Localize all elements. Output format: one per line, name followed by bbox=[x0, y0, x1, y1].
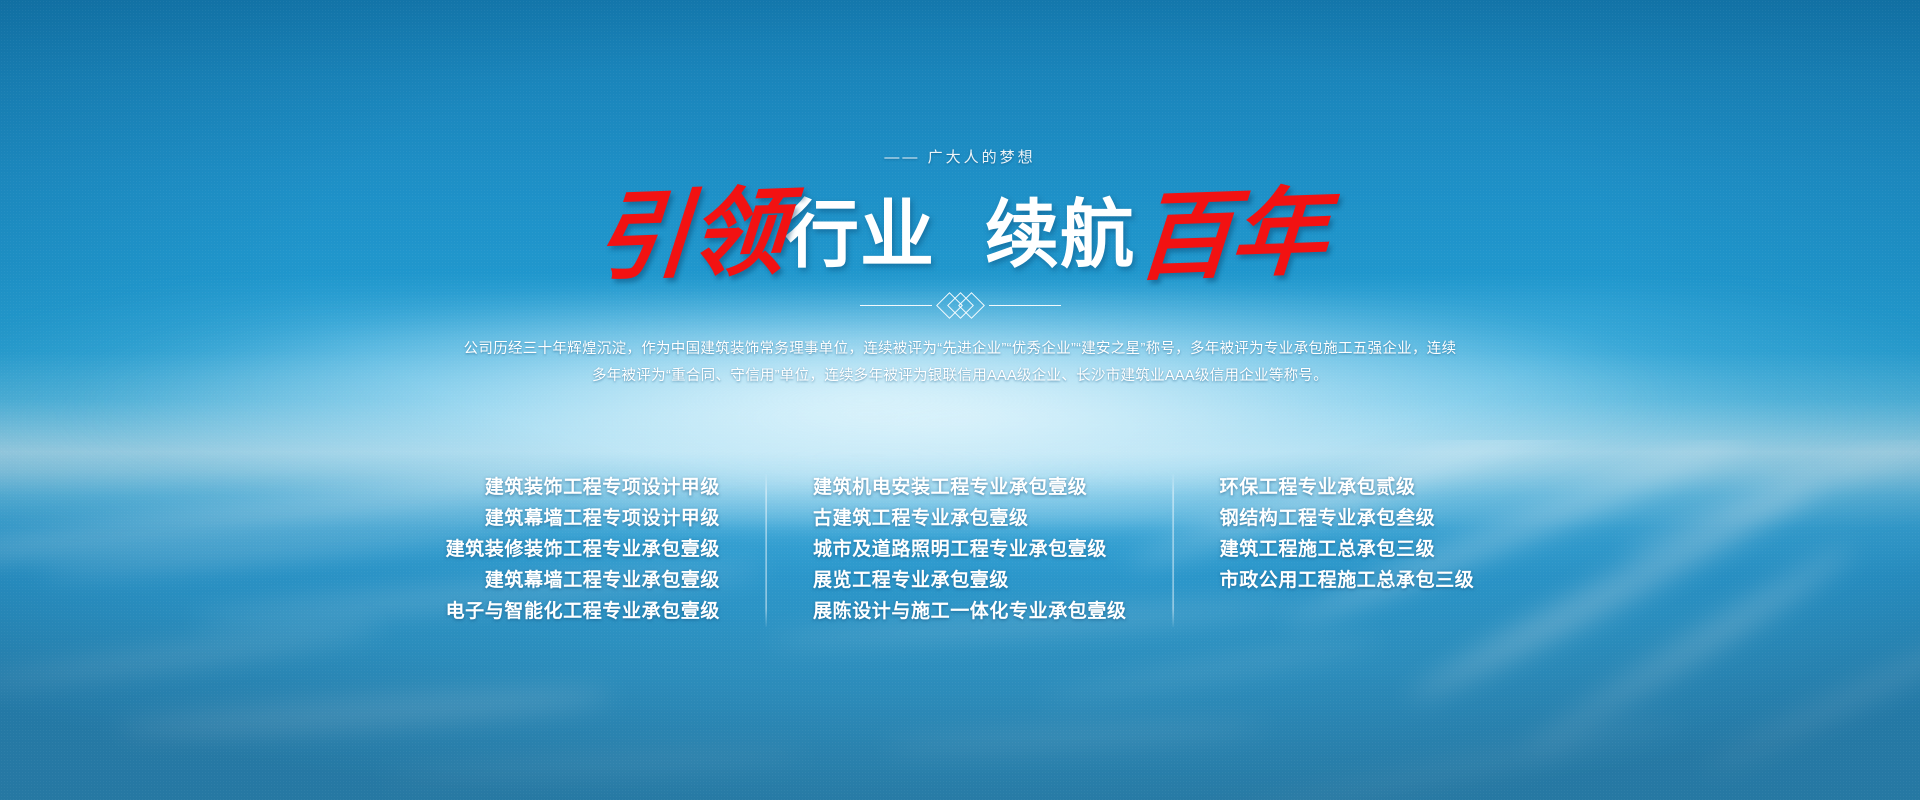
headline-part-lead: 引领 bbox=[591, 184, 786, 287]
qualification-item: 古建筑工程专业承包壹级 bbox=[813, 503, 1127, 534]
headline-part-century: 百年 bbox=[1133, 184, 1328, 287]
hero-banner: —— 广大人的梦想 引领 行业 续航 百年 公司历经三十年辉煌沉淀，作为中国建筑… bbox=[0, 0, 1920, 800]
hero-tagline: —— 广大人的梦想 bbox=[0, 146, 1920, 167]
headline-part-endure: 续航 bbox=[985, 198, 1135, 272]
qualification-item: 建筑幕墙工程专业承包壹级 bbox=[446, 565, 720, 596]
hero-headline: 引领 行业 续航 百年 bbox=[0, 180, 1920, 290]
qualification-item: 环保工程专业承包贰级 bbox=[1220, 472, 1475, 503]
qualification-column-3: 环保工程专业承包贰级 钢结构工程专业承包叁级 建筑工程施工总承包三级 市政公用工… bbox=[1174, 472, 1475, 596]
qualification-item: 建筑机电安装工程专业承包壹级 bbox=[813, 472, 1127, 503]
divider-rule-left bbox=[860, 305, 932, 306]
description-line-1: 公司历经三十年辉煌沉淀，作为中国建筑装饰常务理事单位，连续被评为“先进企业”“优… bbox=[430, 336, 1490, 363]
qualification-item: 建筑装饰工程专项设计甲级 bbox=[446, 472, 720, 503]
ornamental-divider bbox=[0, 296, 1920, 315]
divider-rule-right bbox=[989, 305, 1061, 306]
qualification-item: 建筑幕墙工程专项设计甲级 bbox=[446, 503, 720, 534]
company-description: 公司历经三十年辉煌沉淀，作为中国建筑装饰常务理事单位，连续被评为“先进企业”“优… bbox=[430, 336, 1490, 390]
qualification-item: 建筑工程施工总承包三级 bbox=[1220, 534, 1475, 565]
headline-part-industry: 行业 bbox=[785, 198, 935, 272]
qualification-columns: 建筑装饰工程专项设计甲级 建筑幕墙工程专项设计甲级 建筑装修装饰工程专业承包壹级… bbox=[446, 472, 1475, 627]
qualification-item: 电子与智能化工程专业承包壹级 bbox=[446, 596, 720, 627]
description-line-2: 多年被评为“重合同、守信用”单位，连续多年被评为银联信用AAA级企业、长沙市建筑… bbox=[430, 363, 1490, 390]
hero-content: —— 广大人的梦想 引领 行业 续航 百年 公司历经三十年辉煌沉淀，作为中国建筑… bbox=[0, 0, 1920, 800]
qualification-item: 展陈设计与施工一体化专业承包壹级 bbox=[813, 596, 1127, 627]
qualification-column-2: 建筑机电安装工程专业承包壹级 古建筑工程专业承包壹级 城市及道路照明工程专业承包… bbox=[767, 472, 1173, 627]
qualification-item: 市政公用工程施工总承包三级 bbox=[1220, 565, 1475, 596]
qualification-item: 建筑装修装饰工程专业承包壹级 bbox=[446, 534, 720, 565]
qualification-column-1: 建筑装饰工程专项设计甲级 建筑幕墙工程专项设计甲级 建筑装修装饰工程专业承包壹级… bbox=[446, 472, 766, 627]
diamond-group-icon bbox=[944, 296, 977, 315]
qualification-item: 城市及道路照明工程专业承包壹级 bbox=[813, 534, 1127, 565]
qualification-item: 展览工程专业承包壹级 bbox=[813, 565, 1127, 596]
qualification-item: 钢结构工程专业承包叁级 bbox=[1220, 503, 1475, 534]
